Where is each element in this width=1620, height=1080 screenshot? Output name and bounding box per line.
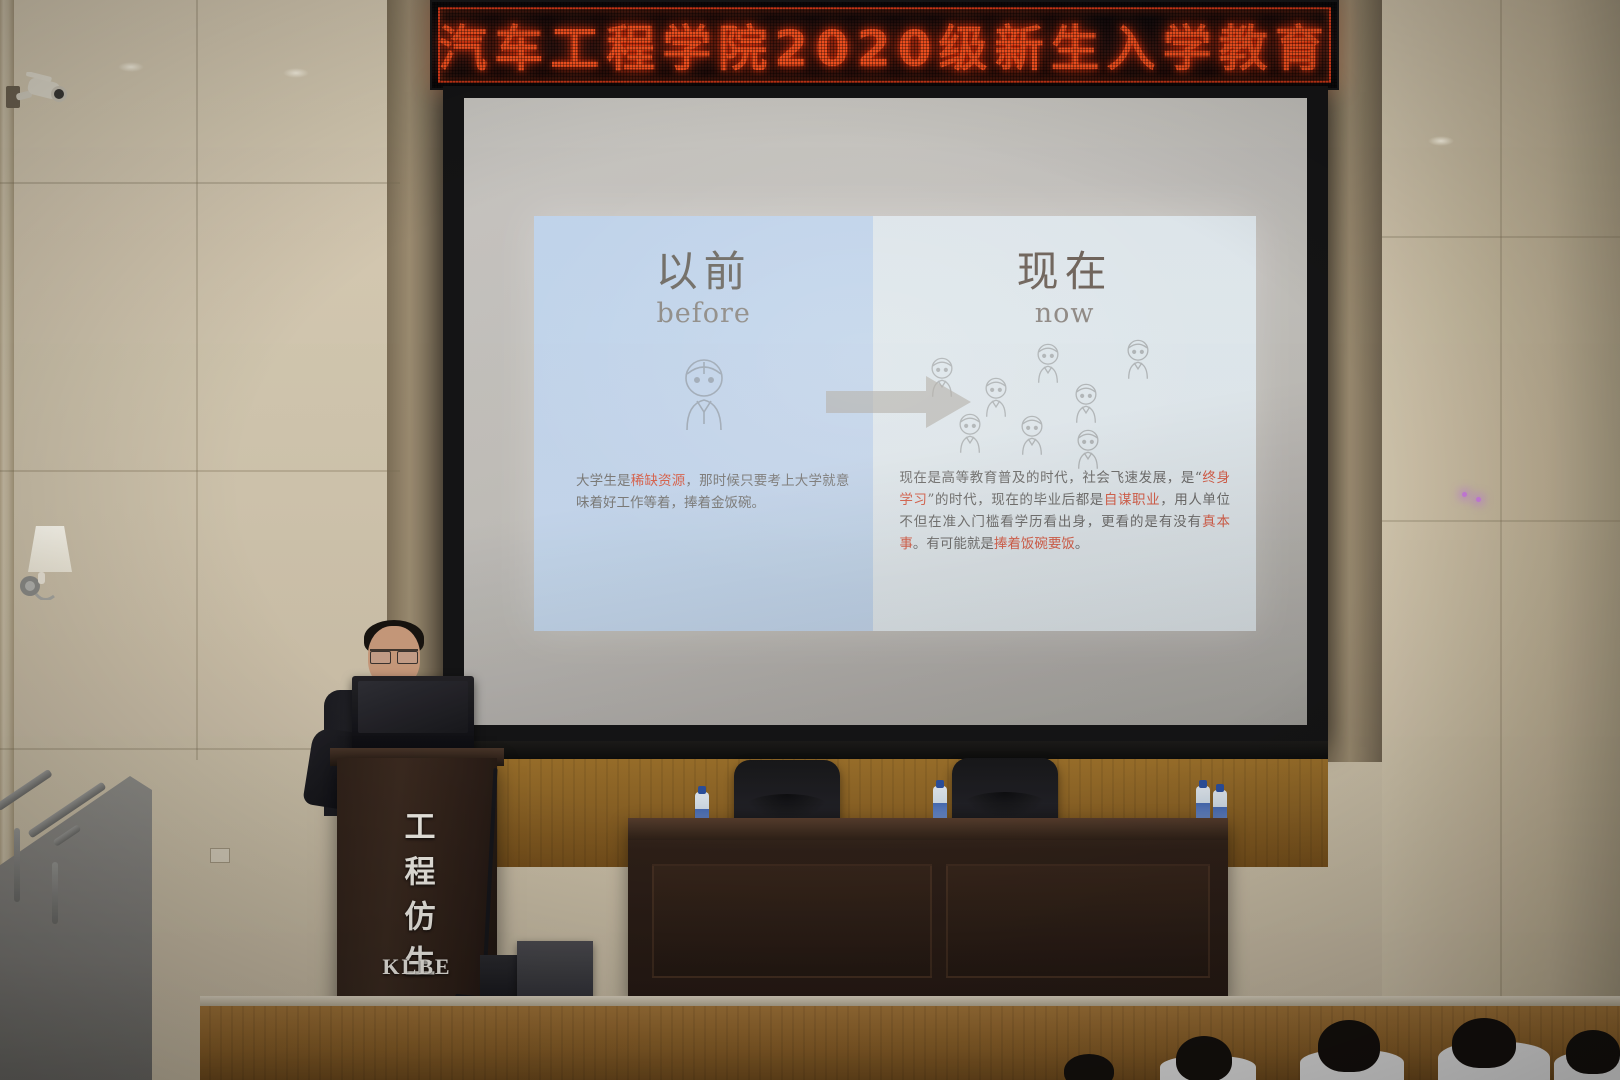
wall-seam (1500, 0, 1502, 1010)
slide-right-text-2: ”的时代，现在的毕业后都是 (927, 492, 1103, 508)
slide-right-text-5: 。 (1075, 536, 1089, 552)
led-banner: 汽车工程学院2020级新生入学教育 (430, 0, 1339, 90)
slide-panel-before: 以前 before (534, 216, 873, 631)
conference-table (628, 818, 1228, 998)
audience-head (1064, 1054, 1114, 1080)
presentation-slide: 以前 before (534, 216, 1256, 631)
person-icon (1015, 414, 1049, 456)
audience-head (1318, 1020, 1380, 1072)
ceiling-light (283, 68, 309, 78)
slide-left-body: 大学生是稀缺资源，那时候只要考上大学就意味着好工作等着，捧着金饭碗。 (576, 471, 849, 515)
screen-bottom-rail (443, 741, 1328, 759)
slide-right-text-4: 。有可能就是 (913, 536, 994, 552)
wall-sconce (8, 512, 78, 624)
slide-right-title: 现在 (873, 238, 1256, 299)
wall-seam (196, 0, 198, 760)
slide-left-title: 以前 (534, 238, 873, 299)
slide-right-highlight-4: 捧着饭碗要饭 (994, 536, 1075, 552)
step-nosing (200, 996, 1620, 1006)
person-icon (1069, 382, 1103, 424)
person-icon (1121, 338, 1155, 380)
slide-left-subtitle: before (534, 298, 873, 329)
audience-head (1452, 1018, 1516, 1068)
bottle-label (933, 803, 947, 818)
chair-seam (963, 792, 1048, 818)
projection-screen-surface: 以前 before (464, 98, 1307, 725)
slide-right-subtitle: now (873, 298, 1256, 329)
foreground-floor (200, 1004, 1620, 1080)
wall-column-right (1328, 0, 1382, 762)
slide-left-highlight: 稀缺资源 (631, 473, 686, 489)
bottle-cap (1216, 784, 1224, 792)
podium-acronym: KLBE (382, 954, 451, 980)
laser-point (1476, 497, 1481, 502)
table-top-edge (628, 818, 1228, 840)
bottle-cap (1199, 780, 1207, 788)
ceiling-light (1428, 136, 1454, 146)
railing-post (14, 828, 20, 902)
slide-right-highlight-2: 自谋职业 (1104, 492, 1160, 508)
cctv-camera-icon (6, 72, 68, 120)
power-outlet[interactable] (210, 848, 230, 863)
laptop-screen (358, 681, 468, 733)
right-arrow-icon (826, 376, 971, 428)
laser-point (1462, 492, 1467, 497)
laptop[interactable] (352, 676, 474, 754)
person-icon (1071, 428, 1105, 470)
person-icon (673, 356, 735, 432)
table-front-panel (652, 864, 932, 978)
slide-right-text-1: 现在是高等教育普及的时代，社会飞速发展，是“ (899, 470, 1202, 486)
chair-seam (745, 794, 830, 820)
person-icon (1031, 342, 1065, 384)
glass-lens-right (397, 651, 418, 664)
sconce-shade (28, 526, 72, 572)
bottle-cap (698, 786, 706, 794)
audience-head (1176, 1036, 1232, 1080)
slide-right-body: 现在是高等教育普及的时代，社会飞速发展，是“终身学习”的时代，现在的毕业后都是自… (899, 468, 1230, 555)
projection-screen-frame: 以前 before (443, 86, 1328, 741)
ceiling-light (118, 62, 144, 72)
sconce-arm (18, 570, 62, 598)
bottle-cap (936, 780, 944, 788)
table-front-panel (946, 864, 1210, 978)
glass-lens-left (370, 651, 391, 664)
wood-grain (200, 1004, 1620, 1080)
bottle-label (1196, 803, 1210, 818)
slide-left-text-1: 大学生是 (576, 473, 631, 489)
wall-seam (0, 182, 400, 184)
auditorium-scene: 汽车工程学院2020级新生入学教育 以前 before (0, 0, 1620, 1080)
led-banner-text: 汽车工程学院2020级新生入学教育 (432, 10, 1337, 81)
audience-head (1566, 1030, 1620, 1074)
av-equipment (517, 941, 593, 1003)
glasses-icon (370, 649, 418, 662)
wall-seam (0, 470, 400, 472)
railing-post (52, 862, 58, 924)
